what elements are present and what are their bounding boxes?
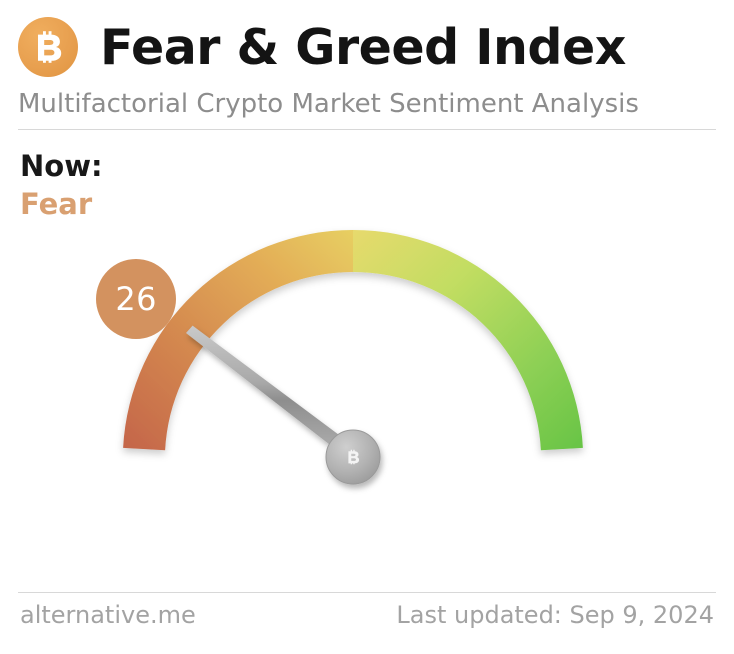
source-link[interactable]: alternative.me: [20, 601, 196, 629]
bitcoin-icon: [18, 17, 78, 77]
gauge-arc: [123, 230, 583, 450]
page-title: Fear & Greed Index: [100, 23, 626, 72]
now-label: Now:: [20, 148, 103, 184]
header: Fear & Greed Index Multifactorial Crypto…: [18, 16, 716, 116]
header-divider: [18, 129, 716, 130]
last-updated-label: Last updated: Sep 9, 2024: [396, 601, 714, 629]
gauge: 26: [0, 215, 734, 585]
footer: alternative.me Last updated: Sep 9, 2024: [20, 601, 714, 629]
gauge-needle: [186, 326, 380, 484]
gauge-arc-left: [123, 230, 353, 450]
current-status: Now: Fear: [20, 148, 103, 223]
fear-greed-index-card: Fear & Greed Index Multifactorial Crypto…: [0, 0, 734, 654]
title-row: Fear & Greed Index: [18, 16, 716, 78]
footer-divider: [18, 592, 716, 593]
gauge-arc-right: [353, 230, 583, 450]
gauge-value: 26: [115, 280, 157, 318]
page-subtitle: Multifactorial Crypto Market Sentiment A…: [18, 90, 716, 119]
